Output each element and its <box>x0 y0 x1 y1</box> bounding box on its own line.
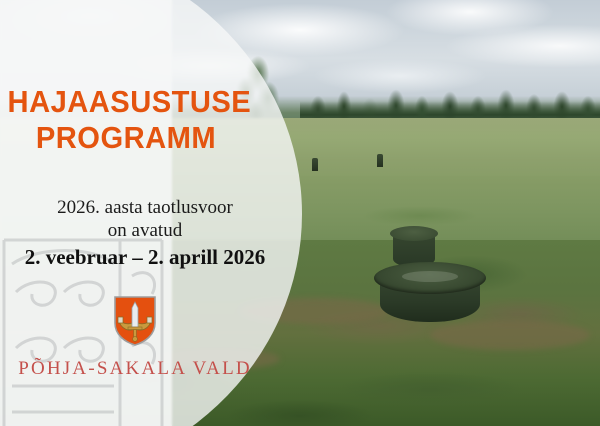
dirt-patch <box>430 320 590 350</box>
poster-content: HAJAASUSTUSE PROGRAMM 2026. aasta taotlu… <box>0 0 290 426</box>
poster-subtitle-line-1: 2026. aasta taotlusvoor <box>0 196 290 219</box>
septic-tank-cover <box>374 262 486 324</box>
poster-canvas: HAJAASUSTUSE PROGRAMM 2026. aasta taotlu… <box>0 0 600 426</box>
field-post <box>312 158 318 171</box>
poster-subtitle-line-2: on avatud <box>0 219 290 242</box>
poster-title-line-1: HAJAASUSTUSE <box>8 84 245 120</box>
municipality-wordmark: PÕHJA-SAKALA VALD <box>0 358 270 380</box>
poster-title: HAJAASUSTUSE PROGRAMM <box>8 84 245 156</box>
municipality-logo: PÕHJA-SAKALA VALD <box>0 295 270 380</box>
riser-lid <box>390 226 438 241</box>
application-period-dates: 2. veebruar – 2. aprill 2026 <box>0 245 290 269</box>
poster-title-line-2: PROGRAMM <box>8 120 245 156</box>
poster-subtitle: 2026. aasta taotlusvoor on avatud <box>0 196 290 242</box>
coat-of-arms-icon <box>113 295 157 347</box>
tank-lid <box>374 262 486 294</box>
field-post <box>377 154 383 167</box>
